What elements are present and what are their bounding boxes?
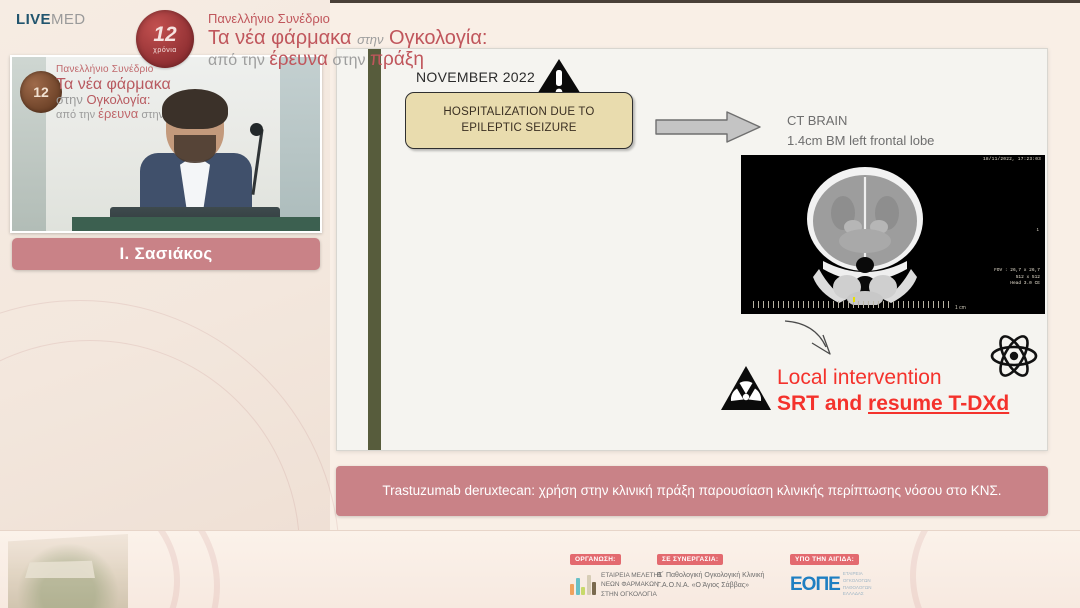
- eope-logo: ΕΟΠΕ ΕΤΑΙΡΕΙΑ ΟΓΚΟΛΟΓΩΝ ΠΑΘΟΛΟΓΩΝ ΕΛΛΑΔΑ…: [790, 571, 871, 598]
- speaker-name-label: Ι. Σασιάκος: [119, 244, 212, 264]
- radiation-triangle-icon: [719, 364, 773, 412]
- seal-years: χρόνια: [153, 47, 177, 54]
- ct-line2-c: Ογκολογία:: [389, 27, 487, 49]
- ct-brain-scan-graphic: [793, 165, 937, 305]
- speaker-beard: [174, 135, 216, 163]
- page-root: LIVEMED 12 Πανελλήνιο Συνέδριο Τα νέα φά…: [0, 0, 1080, 608]
- ct-fov: FOV : 26,7 x 26,7: [994, 268, 1040, 275]
- ct-brain-image[interactable]: 18/11/2022, 17:23:03 1 FOV : 26,7 x 26,7…: [741, 155, 1045, 314]
- timeline-vertical-bar: [368, 49, 381, 451]
- auspices-body: ΕΟΠΕ ΕΤΑΙΡΕΙΑ ΟΓΚΟΛΟΓΩΝ ΠΑΘΟΛΟΓΩΝ ΕΛΛΑΔΑ…: [790, 571, 871, 598]
- ct-line3-d: πράξη: [370, 49, 424, 70]
- ct-line2-b: στην: [357, 32, 383, 47]
- presentation-slide[interactable]: NOVEMBER 2022 HOSPITALIZATION DUE TO EPI…: [336, 48, 1048, 451]
- collaboration-body: Β΄ Παθολογική Ογκολογική Κλινική Γ.Α.Ο.Ν…: [657, 571, 764, 591]
- session-caption-bar: Trastuzumab deruxtecan: χρήση στην κλινι…: [336, 466, 1048, 516]
- ct-line2-a: Τα νέα φάρμακα: [208, 27, 352, 49]
- ct-technical-info: FOV : 26,7 x 26,7 512 x 512 Head 3.0 CE: [994, 268, 1040, 288]
- conference-title-line2: Τα νέα φάρμακα στην Ογκολογία:: [208, 27, 558, 49]
- conference-title: Πανελλήνιο Συνέδριο Τα νέα φάρμακα στην …: [208, 12, 558, 70]
- collaboration-tag: ΣΕ ΣΥΝΕΡΓΑΣΙΑ:: [657, 554, 723, 565]
- organizer-body: ΕΤΑΙΡΕΙΑ ΜΕΛΕΤΗΣ ΝΕΩΝ ΦΑΡΜΑΚΩΝ ΣΤΗΝ ΟΓΚΟ…: [570, 571, 662, 599]
- ct-title: CT BRAIN: [787, 111, 934, 131]
- logo-live-text: LIVE: [16, 11, 51, 28]
- speaker-hair: [162, 89, 228, 129]
- event-box-label: HOSPITALIZATION DUE TO EPILEPTIC SEIZURE: [414, 105, 624, 136]
- ct-scale-marker: [853, 297, 855, 302]
- conference-title-line3: από την έρευνα στην πράξη: [208, 49, 558, 70]
- ct-protocol: Head 3.0 CE: [994, 281, 1040, 288]
- ct-timestamp: 18/11/2022, 17:23:03: [983, 157, 1041, 162]
- conference-title-line1: Πανελλήνιο Συνέδριο: [208, 12, 558, 27]
- curved-arrow-icon: [781, 317, 843, 361]
- ct-line3-b: έρευνα: [269, 49, 328, 70]
- event-box: HOSPITALIZATION DUE TO EPILEPTIC SEIZURE: [405, 92, 633, 149]
- conclusion-line-1: Local intervention: [777, 366, 942, 390]
- organizer-tag: ΟΡΓΑΝΩΣΗ:: [570, 554, 621, 565]
- speaker-video-panel[interactable]: 12 Πανελλήνιο Συνέδριο Τα νέα φάρμακα στ…: [10, 55, 322, 233]
- ct-line3-c: στην: [332, 52, 365, 69]
- collaboration-text: Β΄ Παθολογική Ογκολογική Κλινική Γ.Α.Ο.Ν…: [657, 571, 764, 591]
- livemed-logo[interactable]: LIVEMED: [16, 11, 86, 28]
- ct-caption: CT BRAIN 1.4cm BM left frontal lobe: [787, 111, 934, 150]
- ct-line3-a: από την: [208, 52, 265, 69]
- conclusion-line-2-underlined: resume T-DXd: [868, 392, 1009, 415]
- conference-seal-logo: 12 χρόνια: [136, 10, 194, 68]
- footer-column-collaboration: ΣΕ ΣΥΝΕΡΓΑΣΙΑ: Β΄ Παθολογική Ογκολογική …: [657, 548, 764, 591]
- podium-desk: [72, 217, 322, 231]
- microphone-head-icon: [250, 123, 263, 136]
- conclusion-line-2-plain: SRT and: [777, 392, 868, 415]
- footer-column-organizer: ΟΡΓΑΝΩΣΗ: ΕΤΑΙΡΕΙΑ ΜΕΛΕΤΗΣ ΝΕΩΝ ΦΑΡΜΑΚΩΝ…: [570, 548, 662, 599]
- atom-icon: [989, 331, 1039, 381]
- seal-number: 12: [153, 24, 176, 45]
- speaker-name-bar: Ι. Σασιάκος: [12, 238, 320, 270]
- emefa-bars-logo: [570, 575, 596, 595]
- block-arrow-icon: [655, 111, 761, 143]
- ct-side-marker: 1: [1036, 227, 1039, 232]
- slide-date-label: NOVEMBER 2022: [416, 69, 535, 85]
- ct-scale-ruler: [753, 301, 953, 308]
- ct-finding: 1.4cm BM left frontal lobe: [787, 131, 934, 151]
- video-banner-seal: 12: [20, 71, 62, 113]
- video-right-wall: [280, 57, 320, 231]
- organizer-text: ΕΤΑΙΡΕΙΑ ΜΕΛΕΤΗΣ ΝΕΩΝ ΦΑΡΜΑΚΩΝ ΣΤΗΝ ΟΓΚΟ…: [601, 571, 662, 599]
- eope-logo-text: ΕΟΠΕ: [790, 575, 840, 594]
- ct-scale-label: 1 cm: [955, 305, 966, 311]
- eope-logo-subtext: ΕΤΑΙΡΕΙΑ ΟΓΚΟΛΟΓΩΝ ΠΑΘΟΛΟΓΩΝ ΕΛΛΑΔΑΣ: [843, 571, 872, 598]
- logo-med-text: MED: [51, 11, 86, 28]
- footer-column-auspices: ΥΠΟ ΤΗΝ ΑΙΓΙΔΑ: ΕΟΠΕ ΕΤΑΙΡΕΙΑ ΟΓΚΟΛΟΓΩΝ …: [790, 548, 871, 598]
- conclusion-line-2: SRT and resume T-DXd: [777, 392, 1009, 416]
- auspices-tag: ΥΠΟ ΤΗΝ ΑΙΓΙΔΑ:: [790, 554, 859, 565]
- footer-arc: [910, 530, 1080, 608]
- page-footer: [0, 530, 1080, 608]
- session-caption-text: Trastuzumab deruxtecan: χρήση στην κλινι…: [382, 481, 1001, 501]
